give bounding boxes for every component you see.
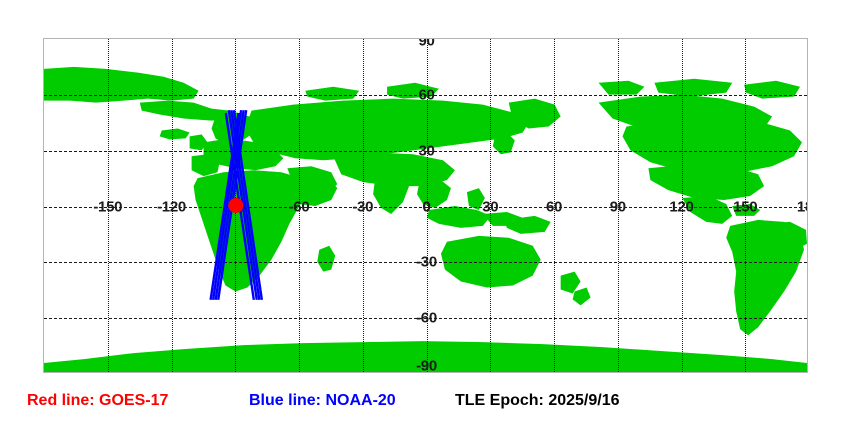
goes17-position-marker — [228, 198, 243, 213]
satellite-track-layer — [44, 39, 807, 372]
legend-blue-line-noaa20: Blue line: NOAA-20 — [249, 392, 396, 410]
land-polygons — [44, 67, 807, 372]
gridline-lon--90 — [235, 39, 236, 372]
lon-tick-label--30: -30 — [352, 198, 373, 215]
noaa20-ground-tracks — [211, 110, 262, 300]
noaa20-track-ascending-7 — [211, 113, 239, 300]
lon-tick-label-180: 180 — [797, 198, 808, 215]
gridline-lat-0 — [44, 207, 807, 208]
lon-tick-label--90: -90 — [225, 198, 246, 215]
lon-tick-label-30: 30 — [482, 198, 498, 215]
noaa20-track-descending-0 — [226, 113, 254, 300]
lon-tick-label--60: -60 — [289, 198, 310, 215]
gridline-lon--30 — [363, 39, 364, 372]
lat-tick-label-30: 30 — [418, 142, 434, 159]
lat-tick-label--30: -30 — [416, 254, 437, 271]
noaa20-track-ascending-4 — [218, 110, 246, 300]
noaa20-track-descending-1 — [229, 110, 257, 300]
gridline-lon-120 — [682, 39, 683, 372]
noaa20-track-descending-3 — [234, 110, 262, 300]
legend-red-line-goes17: Red line: GOES-17 — [27, 392, 168, 410]
lon-tick-label-150: 150 — [733, 198, 757, 215]
goes17-marker-0 — [228, 198, 243, 213]
gridline-lon-30 — [490, 39, 491, 372]
noaa20-track-ascending-5 — [216, 110, 244, 300]
lon-tick-label-60: 60 — [546, 198, 562, 215]
lat-tick-label--90: -90 — [416, 358, 437, 374]
lat-tick-label-0: 0 — [422, 198, 430, 215]
world-map-panel: -300306090120150180-150-120-90-609060300… — [43, 38, 808, 373]
gridline-lon--60 — [299, 39, 300, 372]
lat-tick-label-90: 90 — [418, 38, 434, 50]
gridline-lon-60 — [554, 39, 555, 372]
gridline-lat-60 — [44, 95, 807, 96]
lat-tick-label--60: -60 — [416, 310, 437, 327]
gridline-lat-30 — [44, 151, 807, 152]
gridline-lat--30 — [44, 262, 807, 263]
gridline-lon-90 — [618, 39, 619, 372]
lon-tick-label-0: 0 — [422, 198, 430, 215]
map-legend: Red line: GOES-17 Blue line: NOAA-20 TLE… — [0, 392, 850, 420]
lon-tick-label--150: -150 — [93, 198, 122, 215]
noaa20-track-ascending-6 — [213, 110, 241, 300]
gridline-lon-0 — [427, 39, 428, 372]
gridline-lon-150 — [745, 39, 746, 372]
gridline-lon--120 — [172, 39, 173, 372]
gridline-lon--150 — [108, 39, 109, 372]
landmass-layer — [44, 39, 807, 372]
gridline-lat--60 — [44, 318, 807, 319]
lon-tick-label-120: 120 — [669, 198, 693, 215]
noaa20-track-descending-2 — [231, 110, 259, 300]
lon-tick-label-90: 90 — [610, 198, 626, 215]
lat-tick-label-60: 60 — [418, 86, 434, 103]
legend-tle-epoch: TLE Epoch: 2025/9/16 — [455, 392, 620, 410]
lon-tick-label--120: -120 — [157, 198, 186, 215]
